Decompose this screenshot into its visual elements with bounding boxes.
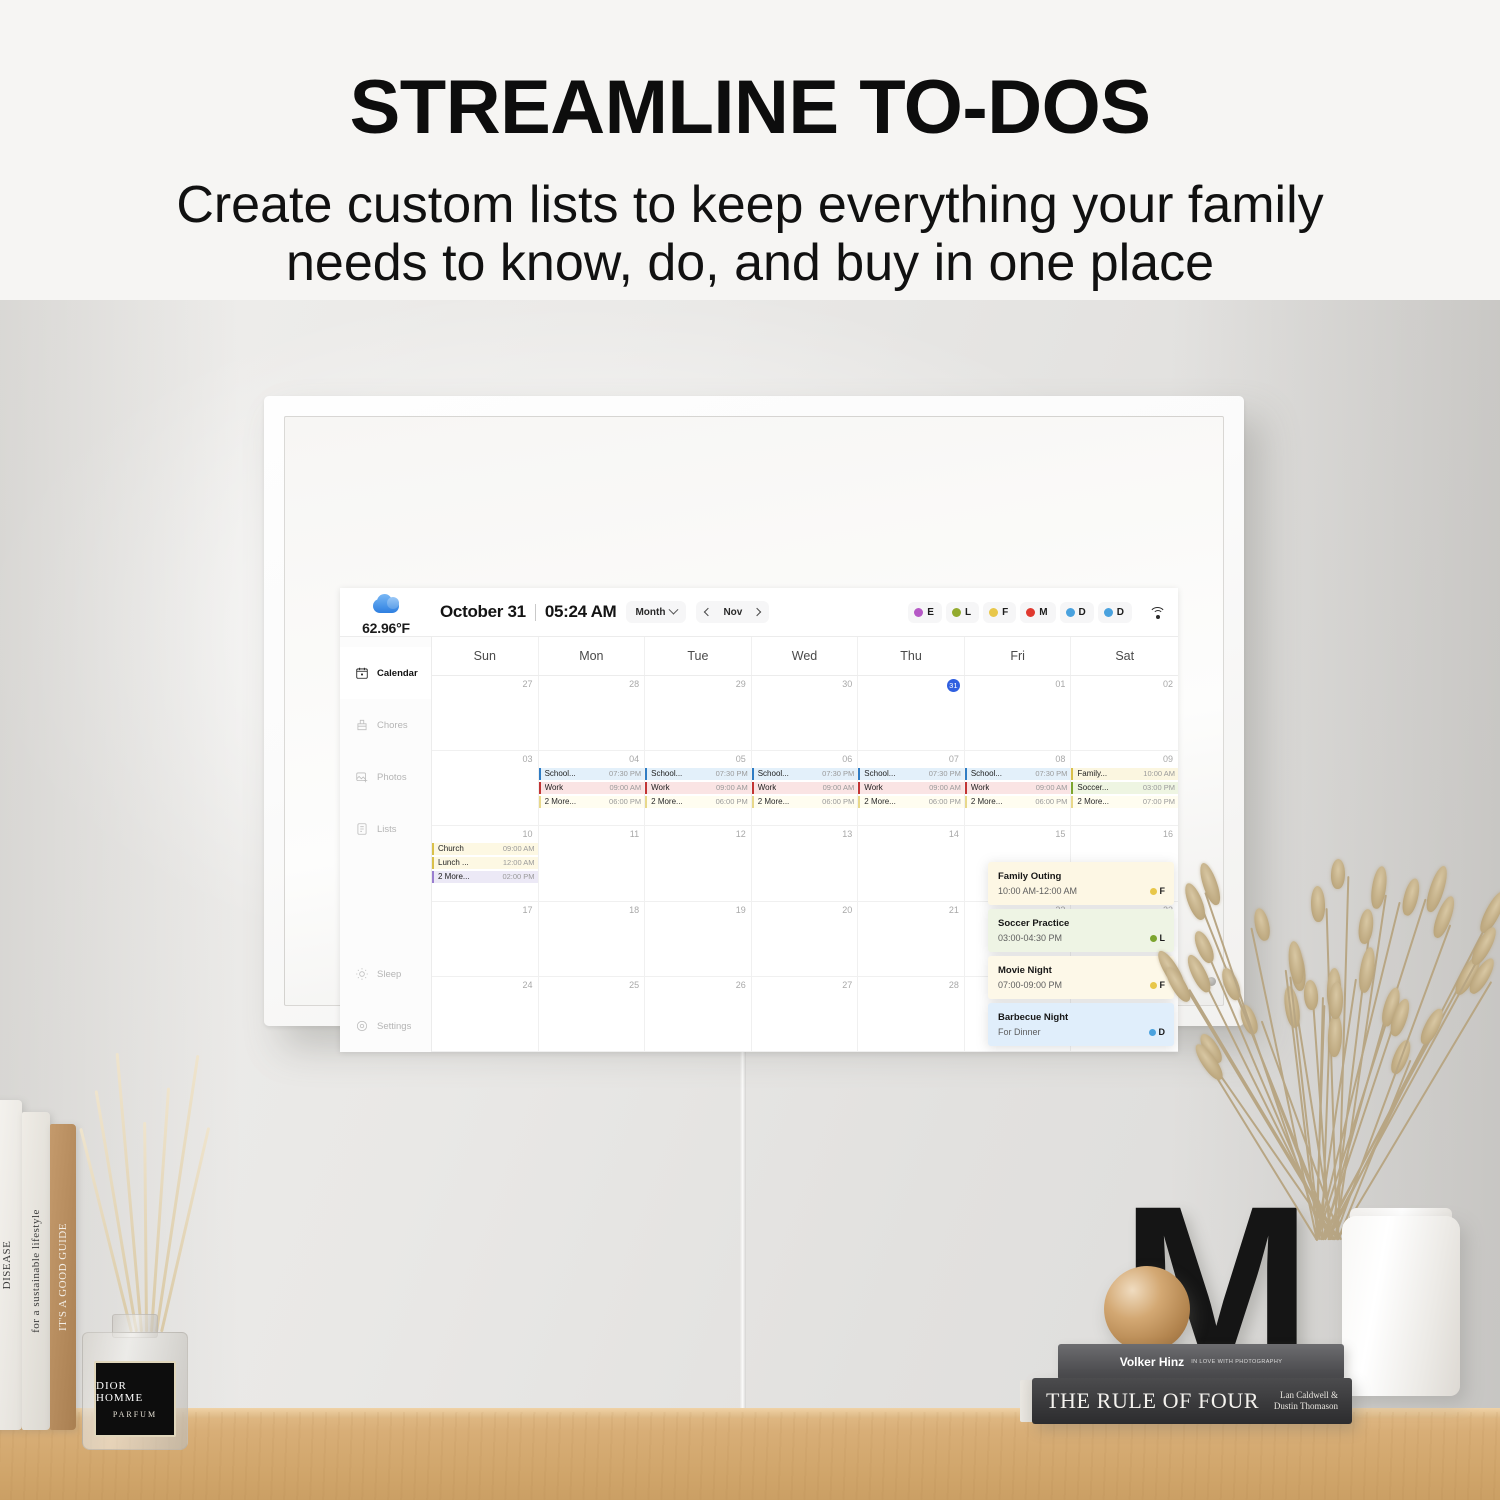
sun-icon (354, 967, 369, 982)
event-name: School... (971, 768, 1002, 781)
calendar-app: 62.96°F October 31 05:24 AM Month (340, 588, 1178, 1052)
day-cell-28[interactable]: 28 (539, 676, 646, 751)
event-name: School... (758, 768, 789, 781)
chevron-left-icon[interactable] (704, 608, 712, 616)
calendar-event[interactable]: Work09:00 AM (752, 782, 858, 795)
bottle-label: DIOR HOMME PARFUM (94, 1361, 176, 1437)
day-cell-08[interactable]: 08School...07:30 PMWork09:00 AM2 More...… (965, 751, 1072, 826)
event-name: Work (758, 782, 777, 795)
day-cell-04[interactable]: 04School...07:30 PMWork09:00 AM2 More...… (539, 751, 646, 826)
event-time: 09:00 AM (820, 782, 855, 795)
grass-tuft (1303, 980, 1319, 1011)
day-number: 15 (965, 829, 1071, 841)
cloud-icon (369, 593, 403, 615)
day-cell-31[interactable]: 31 (858, 676, 965, 751)
day-cell-13[interactable]: 13 (752, 826, 859, 901)
event-detail-card[interactable]: Barbecue NightFor DinnerD (988, 1003, 1174, 1046)
detail-title: Barbecue Night (998, 1011, 1164, 1024)
event-time: 09:00 AM (1033, 782, 1068, 795)
calendar-icon (354, 666, 369, 681)
day-cell-25[interactable]: 25 (539, 977, 646, 1052)
reed-diffuser: DIOR HOMME PARFUM (72, 1300, 200, 1450)
event-time: 09:00 AM (926, 782, 961, 795)
event-name: Family... (1077, 768, 1107, 781)
weekday-sun: Sun (432, 637, 539, 675)
grass-tuft (1252, 907, 1273, 943)
weekday-header-row: SunMonTueWedThuFriSat (432, 636, 1178, 676)
day-number: 09 (1071, 754, 1178, 766)
event-name: 2 More... (971, 796, 1003, 809)
calendar-event[interactable]: 2 More...06:00 PM (752, 796, 858, 809)
power-cable (740, 1028, 746, 1413)
event-time: 03:00 PM (1140, 782, 1175, 795)
book-title: THE RULE OF FOUR (1046, 1388, 1259, 1414)
day-cell-12[interactable]: 12 (645, 826, 752, 901)
event-time: 06:00 PM (819, 796, 854, 809)
calendar-event[interactable]: Soccer...03:00 PM (1071, 782, 1178, 795)
day-cell-11[interactable]: 11 (539, 826, 646, 901)
day-cell-30[interactable]: 30 (752, 676, 859, 751)
smart-display-frame: 62.96°F October 31 05:24 AM Month (264, 396, 1244, 1026)
weekday-fri: Fri (965, 637, 1072, 675)
event-detail-card[interactable]: Family Outing10:00 AM-12:00 AMF (988, 862, 1174, 905)
day-cell-27[interactable]: 27 (752, 977, 859, 1052)
day-number: 18 (539, 905, 645, 917)
member-color-dot (1150, 935, 1157, 942)
calendar-event[interactable]: Work09:00 AM (539, 782, 645, 795)
member-color-dot (1066, 608, 1075, 617)
day-number: 07 (858, 754, 964, 766)
calendar-event[interactable]: 2 More...06:00 PM (858, 796, 964, 809)
detail-title: Soccer Practice (998, 917, 1164, 930)
promo-title: STREAMLINE TO-DOS (0, 68, 1500, 148)
grass-tuft (1331, 859, 1346, 890)
detail-title: Movie Night (998, 964, 1164, 977)
wifi-icon (1149, 605, 1166, 619)
event-time: 07:30 PM (606, 768, 641, 781)
grass-tuft (1327, 1013, 1343, 1056)
day-number: 25 (539, 980, 645, 992)
sidebar-item-calendar[interactable]: Calendar (340, 647, 431, 699)
event-time: 02:00 PM (499, 871, 534, 884)
day-number: 26 (645, 980, 751, 992)
event-name: School... (864, 768, 895, 781)
event-time: 09:00 AM (500, 843, 535, 856)
chevron-right-icon[interactable] (753, 608, 761, 616)
calendar-event[interactable]: 2 More...02:00 PM (432, 871, 538, 884)
event-name: 2 More... (438, 871, 470, 884)
sidebar-label-settings: Settings (377, 1021, 411, 1032)
gear-icon (354, 1019, 369, 1034)
event-detail-panel: Family Outing10:00 AM-12:00 AMFSoccer Pr… (988, 862, 1174, 1046)
sidebar-item-chores[interactable]: Chores (340, 699, 431, 751)
member-initial: F (1002, 607, 1008, 618)
weekday-thu: Thu (858, 637, 965, 675)
sidebar-nav: Calendar Chores Photos (340, 636, 432, 1052)
photos-icon (354, 770, 369, 785)
member-initial: E (927, 607, 934, 618)
event-detail-card[interactable]: Soccer Practice03:00-04:30 PML (988, 909, 1174, 952)
display-screen[interactable]: 62.96°F October 31 05:24 AM Month (340, 588, 1178, 1052)
weekday-wed: Wed (752, 637, 859, 675)
day-cell-06[interactable]: 06School...07:30 PMWork09:00 AM2 More...… (752, 751, 859, 826)
event-name: Church (438, 843, 464, 856)
day-number: 12 (645, 829, 751, 841)
event-time: 09:00 AM (713, 782, 748, 795)
day-cell-10[interactable]: 10Church09:00 AMLunch ...12:00 AM2 More.… (432, 826, 539, 901)
member-color-dot (1149, 1029, 1156, 1036)
day-number: 10 (432, 829, 538, 841)
calendar-view: SunMonTueWedThuFriSat 272829303101020304… (432, 636, 1178, 1052)
event-time: 07:30 PM (713, 768, 748, 781)
event-time: 07:30 PM (819, 768, 854, 781)
calendar-event[interactable]: 2 More...07:00 PM (1071, 796, 1178, 809)
member-chip-m-3[interactable]: M (1020, 602, 1055, 623)
event-name: Work (971, 782, 990, 795)
event-name: School... (651, 768, 682, 781)
day-number: 27 (432, 679, 538, 691)
calendar-event[interactable]: School...07:30 PM (752, 768, 858, 781)
book-authors: Lan Caldwell & Dustin Thomason (1274, 1390, 1338, 1412)
month-navigator[interactable]: Nov (696, 601, 769, 623)
day-number: 06 (752, 754, 858, 766)
event-name: School... (545, 768, 576, 781)
day-number: 28 (858, 980, 964, 992)
weekday-sat: Sat (1071, 637, 1178, 675)
day-cell-28[interactable]: 28 (858, 977, 965, 1052)
event-name: 2 More... (1077, 796, 1109, 809)
member-color-dot (1026, 608, 1035, 617)
sidebar-spacer (340, 855, 431, 948)
member-chip-d-4[interactable]: D (1060, 602, 1094, 623)
book-volker-hinz: Volker Hinz IN LOVE WITH PHOTOGRAPHY (1058, 1344, 1344, 1380)
app-topbar: 62.96°F October 31 05:24 AM Month (340, 588, 1178, 636)
grass-tuft (1399, 877, 1422, 918)
weather-widget[interactable]: 62.96°F (340, 589, 432, 636)
member-initial: M (1039, 607, 1047, 618)
white-vase (1342, 1216, 1460, 1396)
event-name: 2 More... (545, 796, 577, 809)
calendar-event[interactable]: School...07:30 PM (965, 768, 1071, 781)
calendar-event[interactable]: Church09:00 AM (432, 843, 538, 856)
calendar-event[interactable]: School...07:30 PM (645, 768, 751, 781)
day-cell-05[interactable]: 05School...07:30 PMWork09:00 AM2 More...… (645, 751, 752, 826)
sidebar-item-sleep[interactable]: Sleep (340, 948, 431, 1000)
event-name: Work (864, 782, 883, 795)
event-time: 10:00 AM (1140, 768, 1175, 781)
detail-time: 03:00-04:30 PM (998, 933, 1164, 943)
day-cell-02[interactable]: 02 (1071, 676, 1178, 751)
day-cell-24[interactable]: 24 (432, 977, 539, 1052)
event-time: 07:30 PM (1032, 768, 1067, 781)
book-title: DISEASE (1, 1241, 13, 1290)
calendar-event[interactable]: School...07:30 PM (539, 768, 645, 781)
day-cell-26[interactable]: 26 (645, 977, 752, 1052)
member-initial: D (1117, 607, 1124, 618)
day-number: 11 (539, 829, 645, 841)
event-time: 12:00 AM (500, 857, 535, 870)
dried-pampas-grass (1160, 810, 1500, 1240)
day-cell-20[interactable]: 20 (752, 902, 859, 977)
day-cell-01[interactable]: 01 (965, 676, 1072, 751)
current-time: 05:24 AM (545, 602, 617, 622)
event-name: Work (651, 782, 670, 795)
day-number: 27 (752, 980, 858, 992)
lists-icon (354, 822, 369, 837)
day-cell-29[interactable]: 29 (645, 676, 752, 751)
calendar-event[interactable]: 2 More...06:00 PM (965, 796, 1071, 809)
member-chip-e-0[interactable]: E (908, 602, 942, 623)
detail-title: Family Outing (998, 870, 1164, 883)
event-time: 06:00 PM (606, 796, 641, 809)
member-color-dot (1104, 608, 1113, 617)
day-number: 08 (965, 754, 1071, 766)
diffuser-reed (143, 1122, 148, 1332)
day-cell-03[interactable]: 03 (432, 751, 539, 826)
day-cell-07[interactable]: 07School...07:30 PMWork09:00 AM2 More...… (858, 751, 965, 826)
desk-grain (0, 1412, 1500, 1500)
sidebar-item-lists[interactable]: Lists (340, 803, 431, 855)
event-name: 2 More... (651, 796, 683, 809)
detail-time: For Dinner (998, 1027, 1164, 1037)
grass-tuft (1369, 865, 1389, 910)
day-number: 24 (432, 980, 538, 992)
calendar-event[interactable]: Family...10:00 AM (1071, 768, 1178, 781)
member-color-dot (1150, 982, 1157, 989)
event-time: 06:00 PM (1032, 796, 1067, 809)
view-selector-dropdown[interactable]: Month (626, 601, 686, 623)
calendar-event[interactable]: Work09:00 AM (645, 782, 751, 795)
book-subtitle: IN LOVE WITH PHOTOGRAPHY (1191, 1359, 1282, 1365)
book-title: for a sustainable lifestyle (30, 1209, 42, 1333)
chores-icon (354, 718, 369, 733)
day-cell-21[interactable]: 21 (858, 902, 965, 977)
member-chip-l-1[interactable]: L (946, 602, 979, 623)
weekday-tue: Tue (645, 637, 752, 675)
book-rule-of-four: THE RULE OF FOUR Lan Caldwell & Dustin T… (1032, 1378, 1352, 1424)
day-number: 01 (965, 679, 1071, 691)
day-number: 21 (858, 905, 964, 917)
event-name: 2 More... (864, 796, 896, 809)
temperature-label: 62.96°F (362, 620, 410, 636)
detail-time: 10:00 AM-12:00 AM (998, 886, 1164, 896)
member-initial: L (965, 607, 971, 618)
day-number: 28 (539, 679, 645, 691)
day-cell-17[interactable]: 17 (432, 902, 539, 977)
detail-time: 07:00-09:00 PM (998, 980, 1164, 990)
books-right-stack: Volker Hinz IN LOVE WITH PHOTOGRAPHY THE… (1032, 1300, 1352, 1424)
brand-name: DIOR HOMME (96, 1380, 174, 1404)
brand-sub: PARFUM (113, 1410, 157, 1419)
grass-tuft (1357, 908, 1375, 944)
sidebar-item-settings[interactable]: Settings (340, 1000, 431, 1052)
month-nav-label: Nov (723, 607, 742, 618)
divider (535, 604, 536, 621)
day-cell-18[interactable]: 18 (539, 902, 646, 977)
day-cell-27[interactable]: 27 (432, 676, 539, 751)
sidebar-label-chores: Chores (377, 720, 408, 731)
sidebar-item-photos[interactable]: Photos (340, 751, 431, 803)
grass-tuft (1310, 886, 1325, 923)
event-detail-card[interactable]: Movie Night07:00-09:00 PMF (988, 956, 1174, 999)
day-cell-19[interactable]: 19 (645, 902, 752, 977)
book-spine: DISEASE (0, 1100, 22, 1430)
member-color-dot (914, 608, 923, 617)
calendar-event[interactable]: Work09:00 AM (858, 782, 964, 795)
event-name: Lunch ... (438, 857, 469, 870)
book-title: IT'S A GOOD GUIDE (57, 1223, 69, 1331)
day-number: 05 (645, 754, 751, 766)
event-time: 09:00 AM (606, 782, 641, 795)
view-selector-label: Month (635, 607, 665, 618)
day-number: 14 (858, 829, 964, 841)
event-time: 07:30 PM (926, 768, 961, 781)
book-spine: for a sustainable lifestyle (22, 1112, 50, 1430)
weekday-mon: Mon (539, 637, 646, 675)
sidebar-label-sleep: Sleep (377, 969, 401, 980)
member-color-dot (952, 608, 961, 617)
grass-tuft (1329, 982, 1344, 1020)
event-name: Soccer... (1077, 782, 1108, 795)
calendar-event[interactable]: School...07:30 PM (858, 768, 964, 781)
day-number: 02 (1071, 679, 1178, 691)
event-time: 07:00 PM (1140, 796, 1175, 809)
member-color-dot (1150, 888, 1157, 895)
day-number: 19 (645, 905, 751, 917)
member-filter-list: ELFMDD (908, 602, 1132, 623)
calendar-event[interactable]: Work09:00 AM (965, 782, 1071, 795)
chevron-down-icon (669, 604, 679, 614)
promo-subtitle: Create custom lists to keep everything y… (0, 176, 1500, 292)
room-scene: 62.96°F October 31 05:24 AM Month (0, 300, 1500, 1500)
day-number: 03 (432, 754, 538, 766)
today-badge: 31 (947, 679, 960, 692)
member-initial: D (1079, 607, 1086, 618)
day-number: 20 (752, 905, 858, 917)
day-number: 29 (645, 679, 751, 691)
day-cell-14[interactable]: 14 (858, 826, 965, 901)
day-number: 13 (752, 829, 858, 841)
book-title: Volker Hinz (1120, 1355, 1184, 1369)
current-date: October 31 (440, 602, 526, 622)
date-time-display: October 31 05:24 AM (440, 602, 616, 622)
sidebar-label-photos: Photos (377, 772, 407, 783)
event-time: 06:00 PM (926, 796, 961, 809)
calendar-event[interactable]: 2 More...06:00 PM (539, 796, 645, 809)
day-number: 17 (432, 905, 538, 917)
sidebar-label-lists: Lists (377, 824, 397, 835)
day-number: 04 (539, 754, 645, 766)
calendar-event[interactable]: Lunch ...12:00 AM (432, 857, 538, 870)
day-number: 30 (752, 679, 858, 691)
member-chip-d-5[interactable]: D (1098, 602, 1132, 623)
member-color-dot (989, 608, 998, 617)
calendar-event[interactable]: 2 More...06:00 PM (645, 796, 751, 809)
event-time: 06:00 PM (713, 796, 748, 809)
sidebar-label-calendar: Calendar (377, 668, 418, 679)
member-chip-f-2[interactable]: F (983, 602, 1016, 623)
diffuser-reeds (102, 1052, 192, 1332)
event-name: Work (545, 782, 564, 795)
event-name: 2 More... (758, 796, 790, 809)
